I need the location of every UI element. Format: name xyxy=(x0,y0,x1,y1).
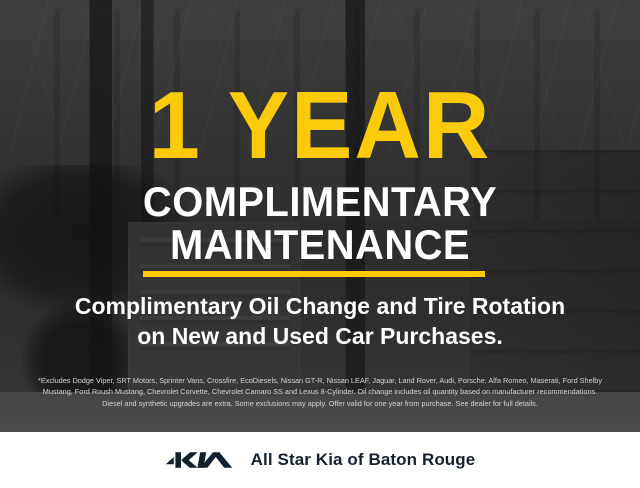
dealer-name: All Star Kia of Baton Rouge xyxy=(251,450,476,470)
disclaimer-line-3: Diesel and synthetic upgrades are extra.… xyxy=(14,398,626,409)
disclaimer-text: *Excludes Dodge Viper, SRT Motors, Sprin… xyxy=(14,375,626,409)
yellow-divider-rule xyxy=(143,271,485,277)
kia-logo-icon xyxy=(165,449,233,471)
tagline-line-2: on New and Used Car Purchases. xyxy=(0,322,640,351)
promotional-banner: 1 YEAR COMPLIMENTARY MAINTENANCE Complim… xyxy=(0,0,640,488)
subheadline-maintenance: MAINTENANCE xyxy=(16,224,624,267)
disclaimer-line-2: Mustang, Ford Roush Mustang, Chevrolet C… xyxy=(14,386,626,397)
subheadline-complimentary: COMPLIMENTARY xyxy=(16,181,624,224)
disclaimer-line-1: *Excludes Dodge Viper, SRT Motors, Sprin… xyxy=(14,375,626,386)
banner-content: 1 YEAR COMPLIMENTARY MAINTENANCE Complim… xyxy=(0,0,640,432)
footer-bar: All Star Kia of Baton Rouge xyxy=(0,432,640,488)
tagline-line-1: Complimentary Oil Change and Tire Rotati… xyxy=(0,292,640,321)
headline-1-year: 1 YEAR xyxy=(13,78,627,174)
